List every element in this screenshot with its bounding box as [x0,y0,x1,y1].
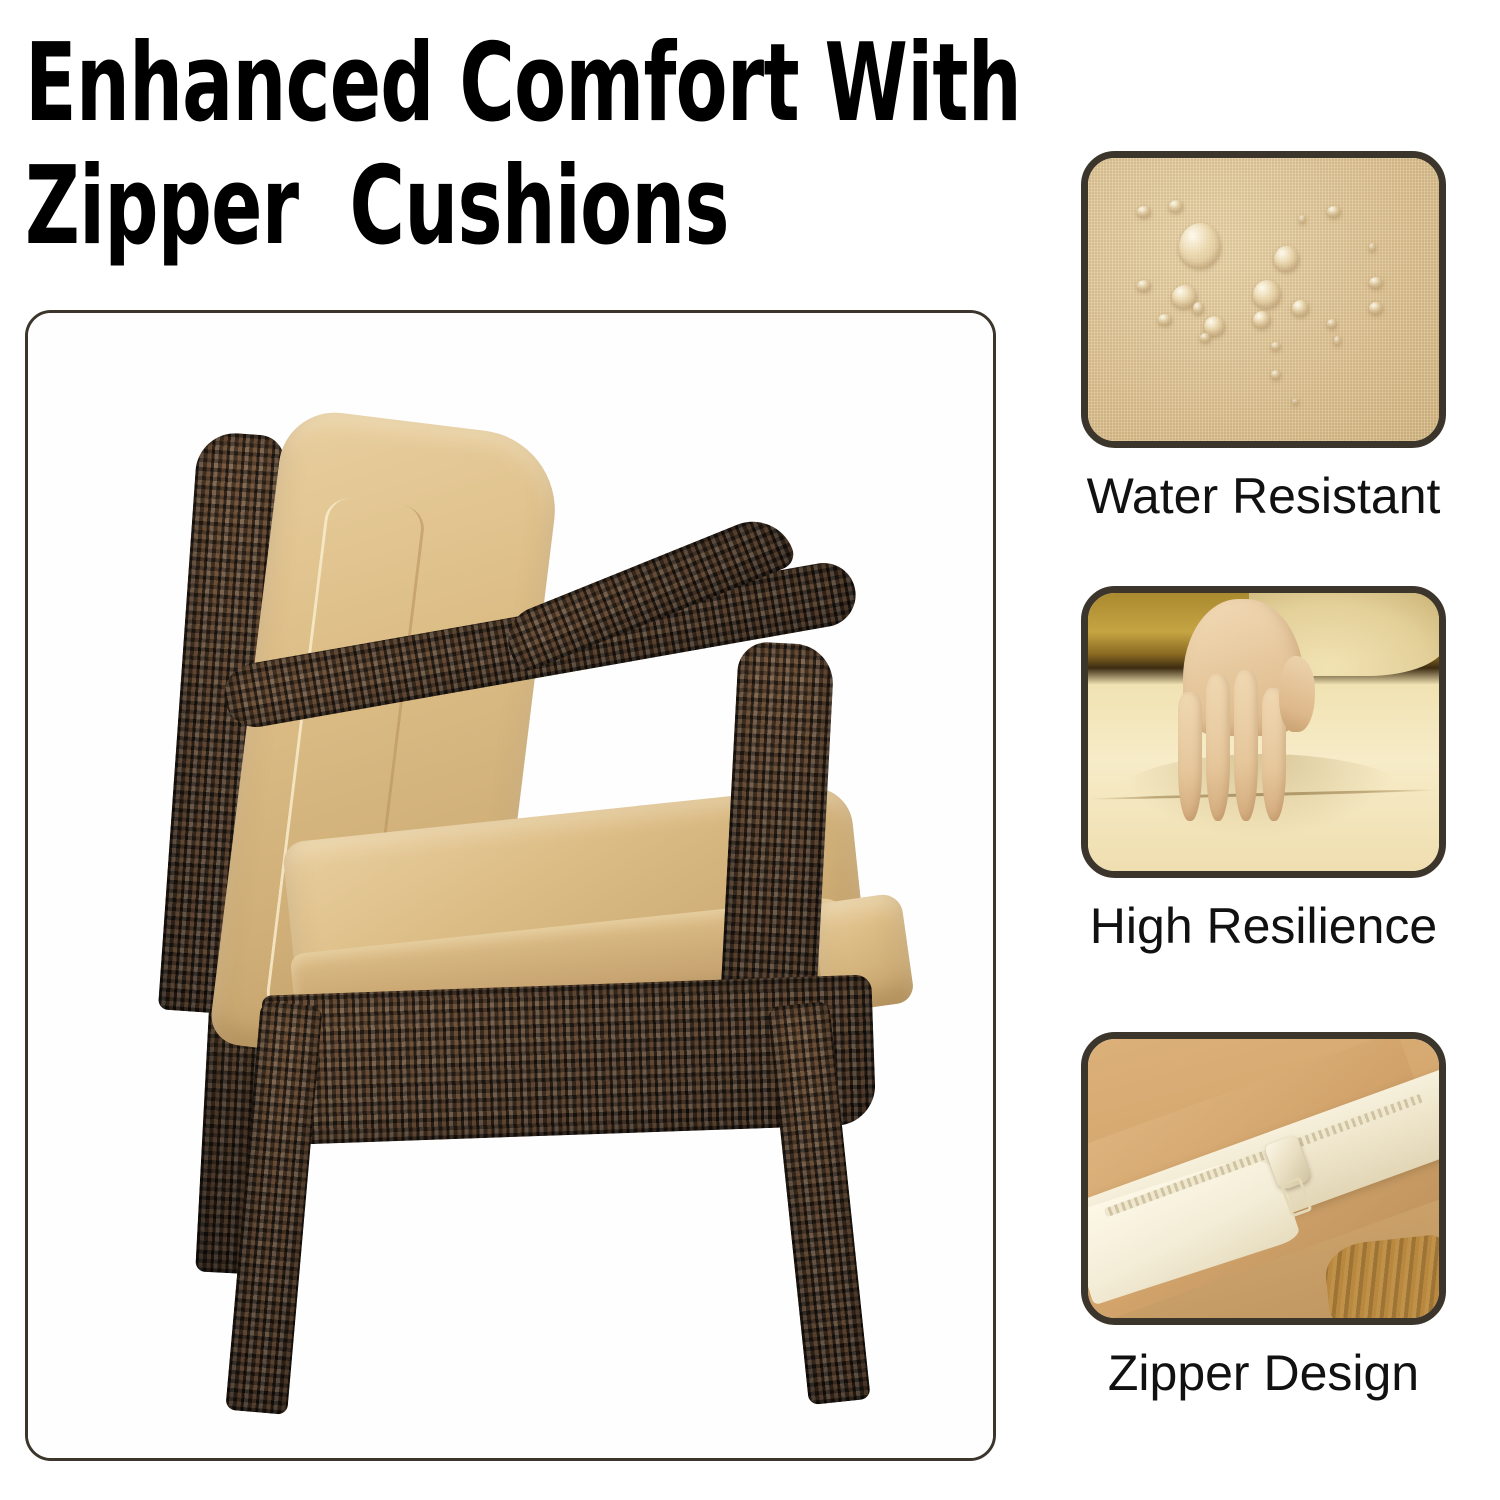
water-droplet [1369,302,1383,313]
water-droplet [1274,246,1299,271]
finger [1206,674,1230,821]
main-product-image-frame [25,310,996,1461]
water-droplet [1369,277,1383,288]
water-droplet [1253,280,1281,308]
page-title-line-1: Enhanced Comfort With [25,22,655,145]
water-droplet [1158,314,1172,325]
water-droplet [1193,302,1204,313]
water-droplet [1369,243,1376,251]
infographic-page: Enhanced Comfort With Zipper Cushions [0,0,1500,1500]
main-product-image [28,313,993,1458]
feature-water-resistant-image [1081,151,1446,448]
page-title-line-2: Zipper Cushions [25,145,655,268]
feature-high-resilience: High Resilience [1081,586,1446,953]
page-title: Enhanced Comfort With Zipper Cushions [25,22,925,268]
water-droplet [1200,333,1211,341]
feature-zipper-design-label: Zipper Design [1081,1347,1446,1400]
feature-zipper-design-image [1081,1032,1446,1325]
finger [1234,670,1258,821]
water-droplet [1299,215,1306,223]
feature-zipper-design: Zipper Design [1081,1032,1446,1400]
feature-water-resistant-label: Water Resistant [1081,470,1446,523]
feature-water-resistant: Water Resistant [1081,151,1446,523]
feature-high-resilience-image [1081,586,1446,878]
water-droplet [1334,336,1341,344]
pressing-hand [1172,599,1312,821]
water-droplet [1169,200,1183,211]
finger [1178,692,1202,821]
water-droplet [1292,399,1299,405]
water-droplet [1137,280,1151,291]
water-droplet [1271,370,1282,378]
water-droplet [1327,319,1338,327]
water-droplet [1253,311,1271,328]
thumb [1279,656,1316,732]
water-droplet [1327,206,1341,217]
feature-high-resilience-label: High Resilience [1081,900,1446,953]
